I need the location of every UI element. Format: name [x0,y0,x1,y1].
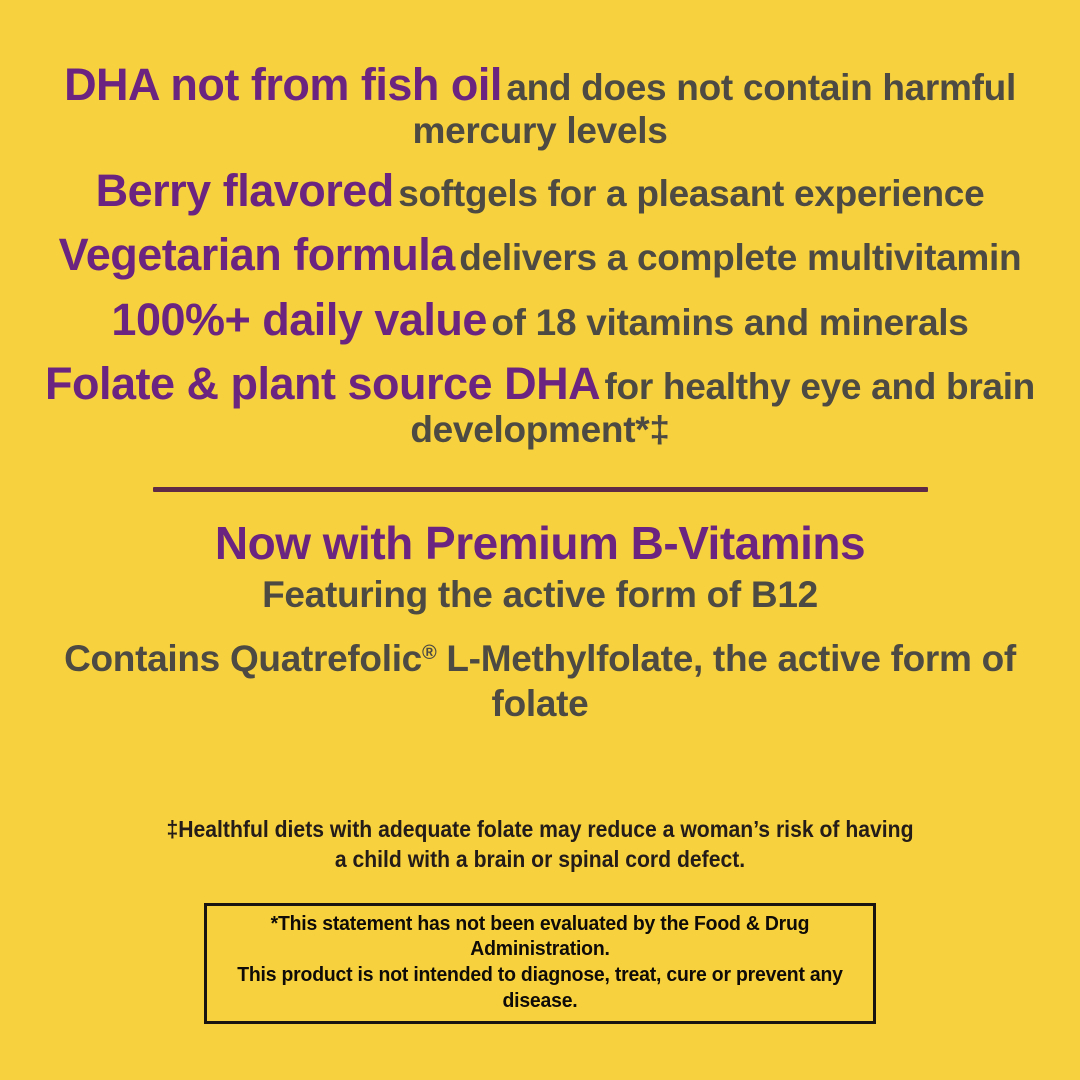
benefits-list: DHA not from fish oil and does not conta… [0,60,1080,465]
fda-disclaimer-line-1: *This statement has not been evaluated b… [225,912,856,963]
benefit-description: softgels for a pleasant experience [398,173,984,214]
benefit-item: Berry flavored softgels for a pleasant e… [35,166,1045,216]
product-benefits-panel: DHA not from fish oil and does not conta… [0,0,1080,1080]
benefit-highlight: DHA not from fish oil [64,59,502,110]
benefit-highlight: Vegetarian formula [59,229,455,280]
benefit-item: 100%+ daily value of 18 vitamins and min… [35,295,1045,345]
section-divider [153,487,928,492]
quatrefolic-text-post: L-Methylfolate, the active form of folat… [436,638,1016,724]
benefit-description: and does not contain harmful mercury lev… [413,67,1016,151]
benefit-highlight: Berry flavored [96,165,394,216]
benefit-highlight: Folate & plant source DHA [45,358,600,409]
registered-trademark-icon: ® [422,642,436,664]
premium-subheading: Featuring the active form of B12 [35,574,1045,615]
benefit-highlight: 100%+ daily value [111,294,487,345]
benefit-description: delivers a complete multivitamin [459,237,1021,278]
benefit-item: Folate & plant source DHA for healthy ey… [35,359,1045,451]
benefit-description: of 18 vitamins and minerals [491,302,968,343]
premium-b-vitamins-section: Now with Premium B-Vitamins Featuring th… [35,518,1045,726]
benefit-item: DHA not from fish oil and does not conta… [35,60,1045,152]
quatrefolic-text-pre: Contains Quatrefolic [64,638,422,679]
fda-disclaimer-line-2: This product is not intended to diagnose… [225,963,856,1014]
folate-footnote: ‡Healthful diets with adequate folate ma… [163,814,917,875]
benefit-item: Vegetarian formula delivers a complete m… [35,230,1045,280]
premium-heading: Now with Premium B-Vitamins [35,518,1045,569]
quatrefolic-statement: Contains Quatrefolic® L-Methylfolate, th… [35,636,1045,726]
fda-disclaimer-box: *This statement has not been evaluated b… [204,903,876,1024]
